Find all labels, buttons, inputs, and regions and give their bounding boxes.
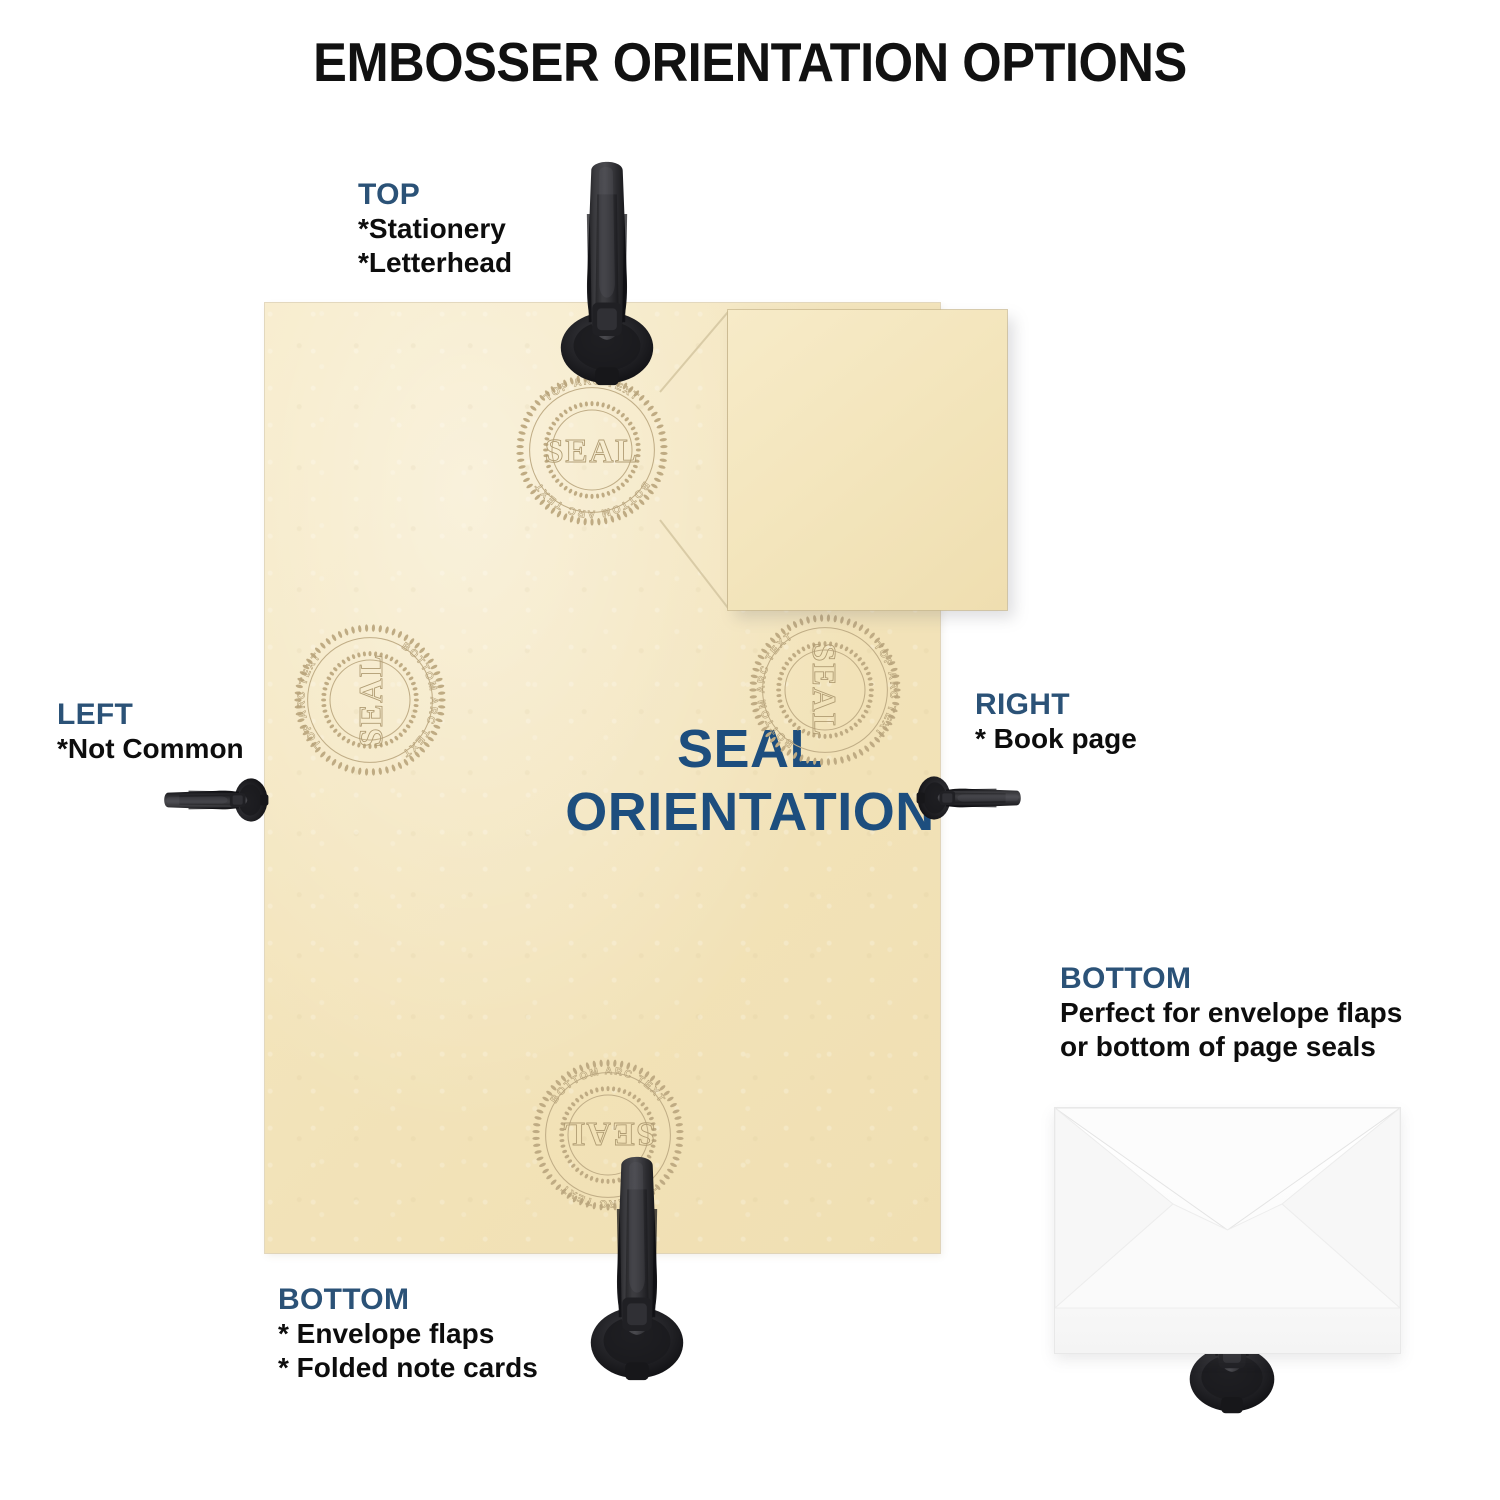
svg-text:TOP ARC TEXT: TOP ARC TEXT bbox=[871, 641, 898, 739]
embosser-tool-bottom[interactable] bbox=[578, 1150, 696, 1390]
envelope bbox=[1055, 1108, 1400, 1353]
label-bottom-envelope-line-1: or bottom of page seals bbox=[1060, 1030, 1402, 1064]
label-top-line-1: *Letterhead bbox=[358, 246, 512, 280]
label-bottom-page-line-0: * Envelope flaps bbox=[278, 1317, 538, 1351]
label-bottom-envelope-line-0: Perfect for envelope flaps bbox=[1060, 996, 1402, 1030]
svg-text:SEAL: SEAL bbox=[805, 643, 842, 737]
seal-impression-right: TOP ARC TEXT BOTTOM ARC TEXT SEAL bbox=[745, 610, 905, 770]
infographic-canvas: EMBOSSER ORIENTATION OPTIONS SEAL ORIENT… bbox=[0, 0, 1500, 1500]
svg-text:SEAL: SEAL bbox=[561, 1115, 655, 1152]
embosser-tool-top[interactable] bbox=[548, 155, 666, 395]
svg-text:SEAL: SEAL bbox=[353, 653, 390, 747]
page-title: EMBOSSER ORIENTATION OPTIONS bbox=[60, 30, 1440, 94]
label-right-line-0: * Book page bbox=[975, 722, 1137, 756]
label-left-line-0: *Not Common bbox=[57, 732, 244, 766]
label-bottom-page-line-1: * Folded note cards bbox=[278, 1351, 538, 1385]
label-bottom-page-heading: BOTTOM bbox=[278, 1283, 538, 1317]
label-left: LEFT *Not Common bbox=[57, 698, 244, 766]
label-bottom-page: BOTTOM * Envelope flaps * Folded note ca… bbox=[278, 1283, 538, 1385]
envelope-graphic bbox=[1055, 1108, 1400, 1353]
label-top: TOP *Stationery *Letterhead bbox=[358, 178, 512, 280]
label-top-heading: TOP bbox=[358, 178, 512, 212]
svg-text:TOP ARC TEXT: TOP ARC TEXT bbox=[296, 651, 323, 749]
seal-impression-left: TOP ARC TEXT BOTTOM ARC TEXT SEAL bbox=[290, 620, 450, 780]
label-bottom-envelope: BOTTOM Perfect for envelope flaps or bot… bbox=[1060, 962, 1402, 1064]
magnified-seal-callout bbox=[728, 310, 1007, 610]
label-left-heading: LEFT bbox=[57, 698, 244, 732]
label-right-heading: RIGHT bbox=[975, 688, 1137, 722]
label-right: RIGHT * Book page bbox=[975, 688, 1137, 756]
label-bottom-envelope-heading: BOTTOM bbox=[1060, 962, 1402, 996]
label-top-line-0: *Stationery bbox=[358, 212, 512, 246]
svg-text:SEAL: SEAL bbox=[545, 433, 639, 470]
